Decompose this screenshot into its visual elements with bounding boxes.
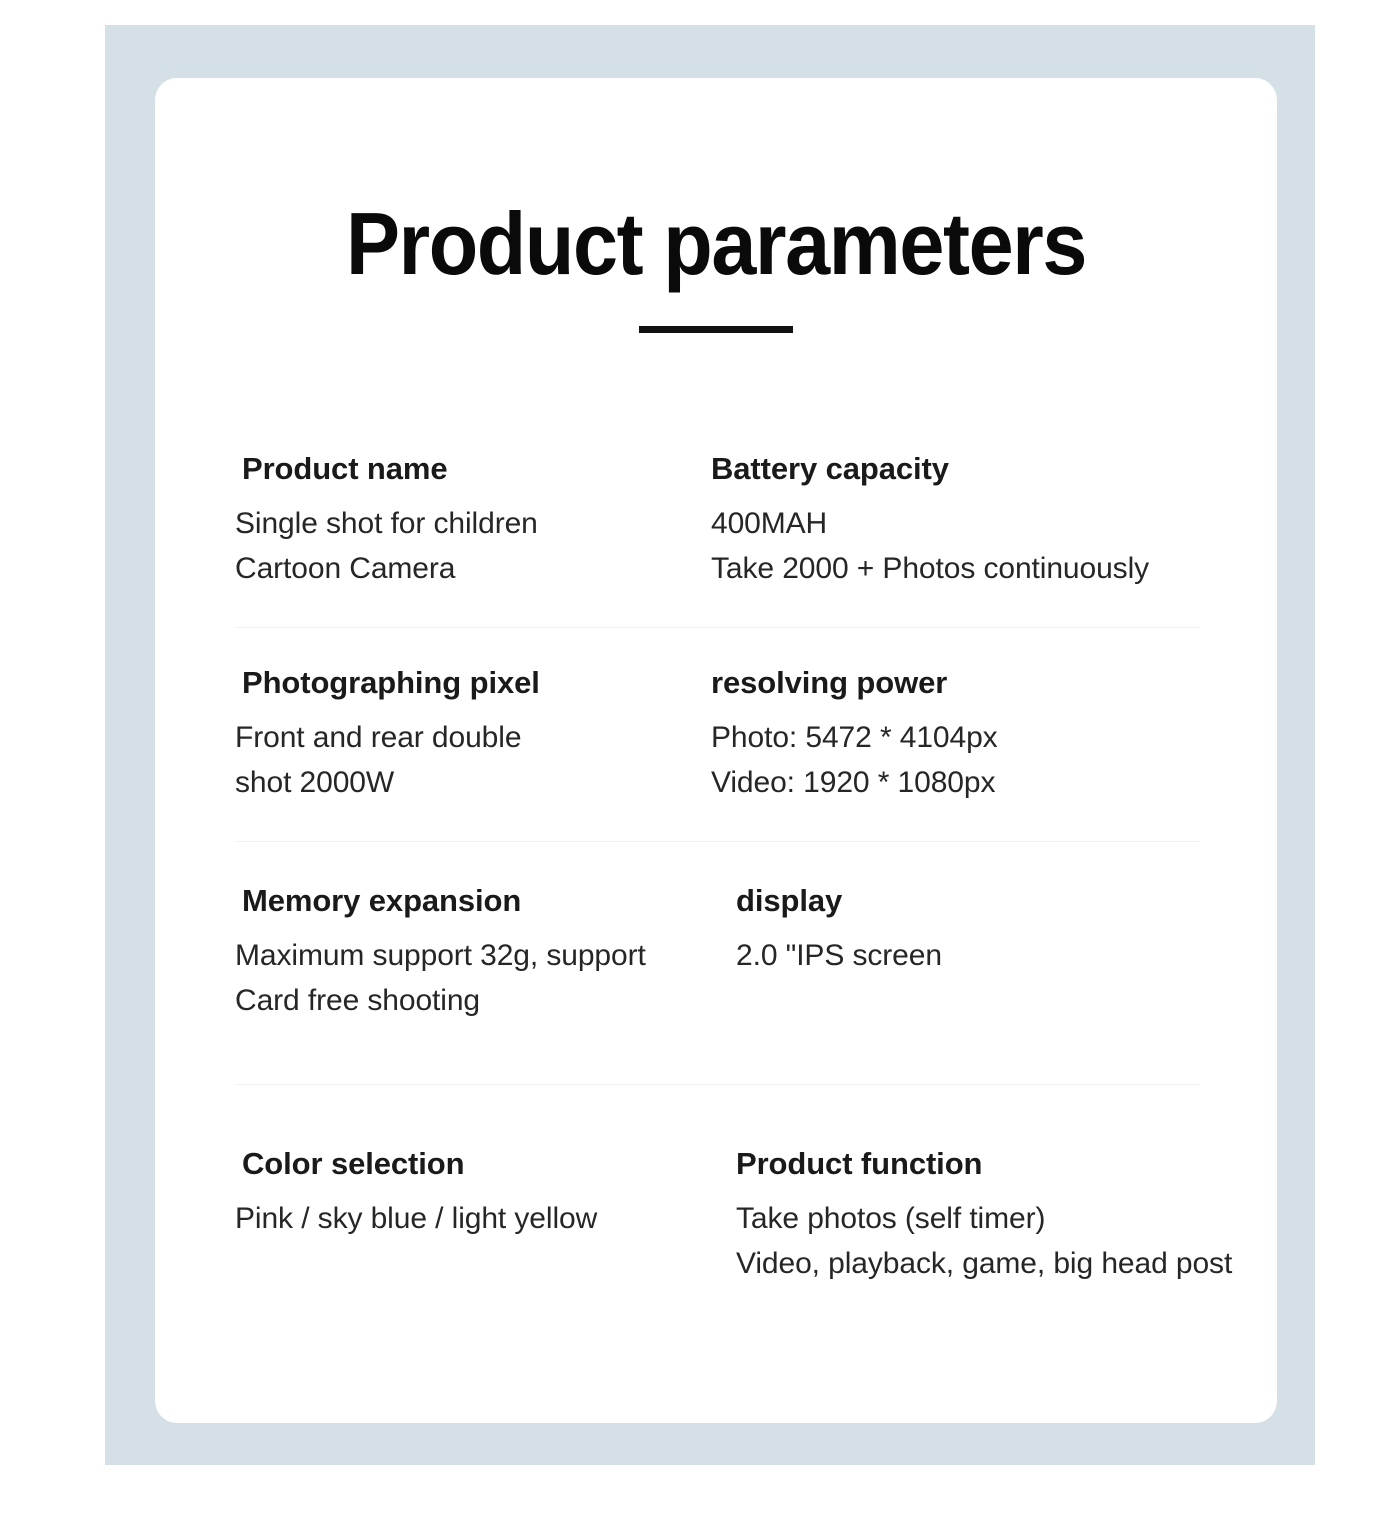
spec-value-line: 2.0 "IPS screen (736, 933, 1200, 979)
spec-label: Product name (235, 450, 711, 489)
title-underline-rule (639, 326, 793, 333)
spec-cell-product-function: Product function Take photos (self timer… (711, 1145, 1200, 1287)
spec-value-line: Take 2000 + Photos continuously (711, 546, 1200, 592)
title-block: Product parameters (155, 198, 1277, 333)
spec-cell-photographing-pixel: Photographing pixel Front and rear doubl… (235, 664, 711, 806)
page-title: Product parameters (200, 198, 1232, 290)
row-spacer (235, 628, 1200, 664)
spec-cell-battery-capacity: Battery capacity 400MAH Take 2000 + Phot… (711, 450, 1200, 592)
spec-value: Photo: 5472 * 4104px Video: 1920 * 1080p… (711, 715, 1200, 806)
row-spacer (235, 1024, 1200, 1084)
spec-label: resolving power (711, 664, 1200, 703)
spec-value: Maximum support 32g, support Card free s… (235, 933, 711, 1024)
spec-value-line: Pink / sky blue / light yellow (235, 1196, 711, 1242)
spec-cell-display: display 2.0 "IPS screen (711, 882, 1200, 978)
spec-row: Color selection Pink / sky blue / light … (235, 1145, 1200, 1287)
spec-value: Take photos (self timer) Video, playback… (736, 1196, 1200, 1287)
spec-label: Product function (736, 1145, 1200, 1184)
row-spacer (235, 806, 1200, 841)
spec-value-line: Card free shooting (235, 978, 711, 1024)
spec-value: 2.0 "IPS screen (736, 933, 1200, 979)
spec-card: Product parameters Product name Single s… (155, 78, 1277, 1423)
spec-cell-resolving-power: resolving power Photo: 5472 * 4104px Vid… (711, 664, 1200, 806)
spec-value-line: Front and rear double (235, 715, 711, 761)
spec-row: Product name Single shot for children Ca… (235, 450, 1200, 592)
product-parameters-page: Product parameters Product name Single s… (0, 0, 1400, 1515)
spec-value-line: Single shot for children (235, 501, 711, 547)
row-spacer (235, 1085, 1200, 1145)
spec-label: Battery capacity (711, 450, 1200, 489)
spec-value-line: shot 2000W (235, 760, 711, 806)
spec-label: Photographing pixel (235, 664, 711, 703)
spec-cell-color-selection: Color selection Pink / sky blue / light … (235, 1145, 711, 1241)
spec-cell-memory-expansion: Memory expansion Maximum support 32g, su… (235, 882, 711, 1024)
row-spacer (235, 592, 1200, 627)
spec-value: Single shot for children Cartoon Camera (235, 501, 711, 592)
spec-label: Memory expansion (235, 882, 711, 921)
spec-table: Product name Single shot for children Ca… (235, 450, 1200, 1287)
spec-label: display (736, 882, 1200, 921)
spec-value-line: Video: 1920 * 1080px (711, 760, 1200, 806)
spec-value-line: Cartoon Camera (235, 546, 711, 592)
spec-value-line: Maximum support 32g, support (235, 933, 711, 979)
spec-cell-product-name: Product name Single shot for children Ca… (235, 450, 711, 592)
spec-row: Memory expansion Maximum support 32g, su… (235, 882, 1200, 1024)
spec-value-line: 400MAH (711, 501, 1200, 547)
row-spacer (235, 842, 1200, 882)
spec-value: Pink / sky blue / light yellow (235, 1196, 711, 1242)
spec-row: Photographing pixel Front and rear doubl… (235, 664, 1200, 806)
spec-value: 400MAH Take 2000 + Photos continuously (711, 501, 1200, 592)
spec-value-line: Take photos (self timer) (736, 1196, 1200, 1242)
spec-value-line: Photo: 5472 * 4104px (711, 715, 1200, 761)
spec-label: Color selection (235, 1145, 711, 1184)
spec-value-line: Video, playback, game, big head post (736, 1241, 1200, 1287)
spec-value: Front and rear double shot 2000W (235, 715, 711, 806)
